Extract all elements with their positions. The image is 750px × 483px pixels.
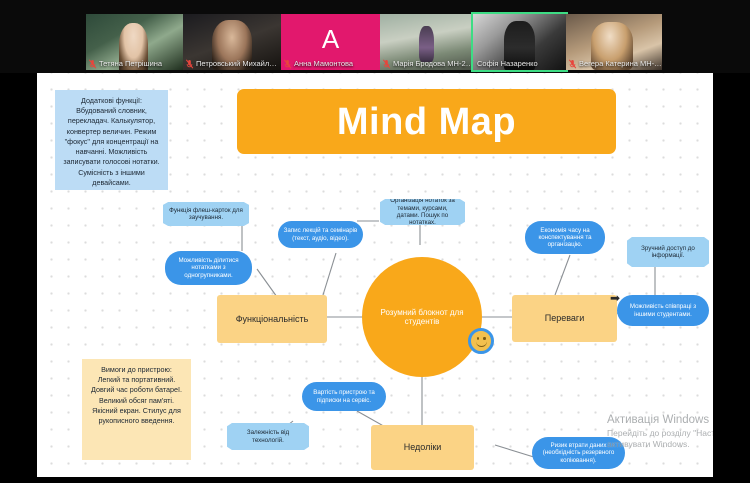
participant-name-0: Тетяна Петрішина (86, 59, 183, 70)
center-node-smart-notebook[interactable]: Розумний блокнот для студентів (362, 257, 482, 377)
node-cost[interactable]: Вартість пристрою та підписки на сервіс. (302, 382, 386, 411)
participant-tile-4-active-speaker[interactable]: Софія Назаренко (473, 14, 566, 70)
windows-activation-watermark: Активація Windows Перейдіть до розділу "… (607, 413, 713, 450)
avatar-initial: A (322, 26, 339, 52)
watermark-subtitle: Перейдіть до розділу "Настройки", щоб ак… (607, 428, 713, 450)
mindmap-canvas[interactable]: Mind Map Додаткові функції: Вбудований с… (37, 73, 713, 477)
participant-name-2: Анна Мамонтова (281, 59, 380, 70)
node-time-saving[interactable]: Економія часу на конспектування та орган… (525, 221, 605, 254)
participant-tile-3[interactable]: Марія Бродова МН-2… (380, 14, 473, 70)
participant-tile-1[interactable]: Петровський Михайл… (183, 14, 281, 70)
node-collaborate[interactable]: Можливість співпраці з іншими студентами… (617, 295, 709, 326)
page-title: Mind Map (337, 103, 516, 141)
participant-tile-2[interactable]: A Анна Мамонтова (281, 14, 380, 70)
share-frame-right-gutter (713, 73, 750, 483)
info-panel-extra-functions: Додаткові функції: Вбудований словник, п… (55, 90, 168, 190)
branch-drawbacks[interactable]: Недоліки (371, 425, 474, 470)
watermark-title: Активація Windows (607, 413, 713, 428)
node-tech-dependency[interactable]: Залежність від технологій. (227, 423, 309, 450)
branch-advantages[interactable]: Переваги (512, 295, 617, 342)
participant-tile-5[interactable]: Вегера Катерина МН-… (566, 14, 662, 70)
participant-name-4: Софія Назаренко (473, 59, 566, 70)
participant-filmstrip: Тетяна Петрішина Петровський Михайл… A А… (0, 0, 750, 73)
slide-title-banner: Mind Map (237, 89, 616, 154)
node-easy-access[interactable]: Зручний доступ до інформації. (627, 237, 709, 267)
branch-functionality[interactable]: Функціональність (217, 295, 327, 343)
participant-name-3: Марія Бродова МН-2… (380, 59, 473, 70)
filmstrip-left-spacer (0, 0, 86, 73)
node-flashcards[interactable]: Функція флеш-карток для заучування. (163, 202, 249, 226)
participant-name-1: Петровський Михайл… (183, 59, 281, 70)
node-share-notes[interactable]: Можливість ділитися нотатками з одногруп… (165, 251, 252, 285)
shared-screen-frame: Mind Map Додаткові функції: Вбудований с… (0, 73, 750, 483)
smiley-mouth (476, 340, 487, 347)
info-panel-device-requirements: Вимоги до пристрою: Легкий та портативни… (82, 359, 191, 460)
participant-tile-0[interactable]: Тетяна Петрішина (86, 14, 183, 70)
right-arrow-icon: ➡ (610, 292, 620, 304)
node-organize-notes[interactable]: Організація нотаток за темами, курсами, … (380, 199, 465, 225)
node-record-lectures[interactable]: Запис лекцій та семінарів (текст, аудіо,… (278, 221, 363, 248)
smiley-reaction-icon[interactable] (468, 328, 494, 354)
participant-name-5: Вегера Катерина МН-… (566, 59, 662, 70)
